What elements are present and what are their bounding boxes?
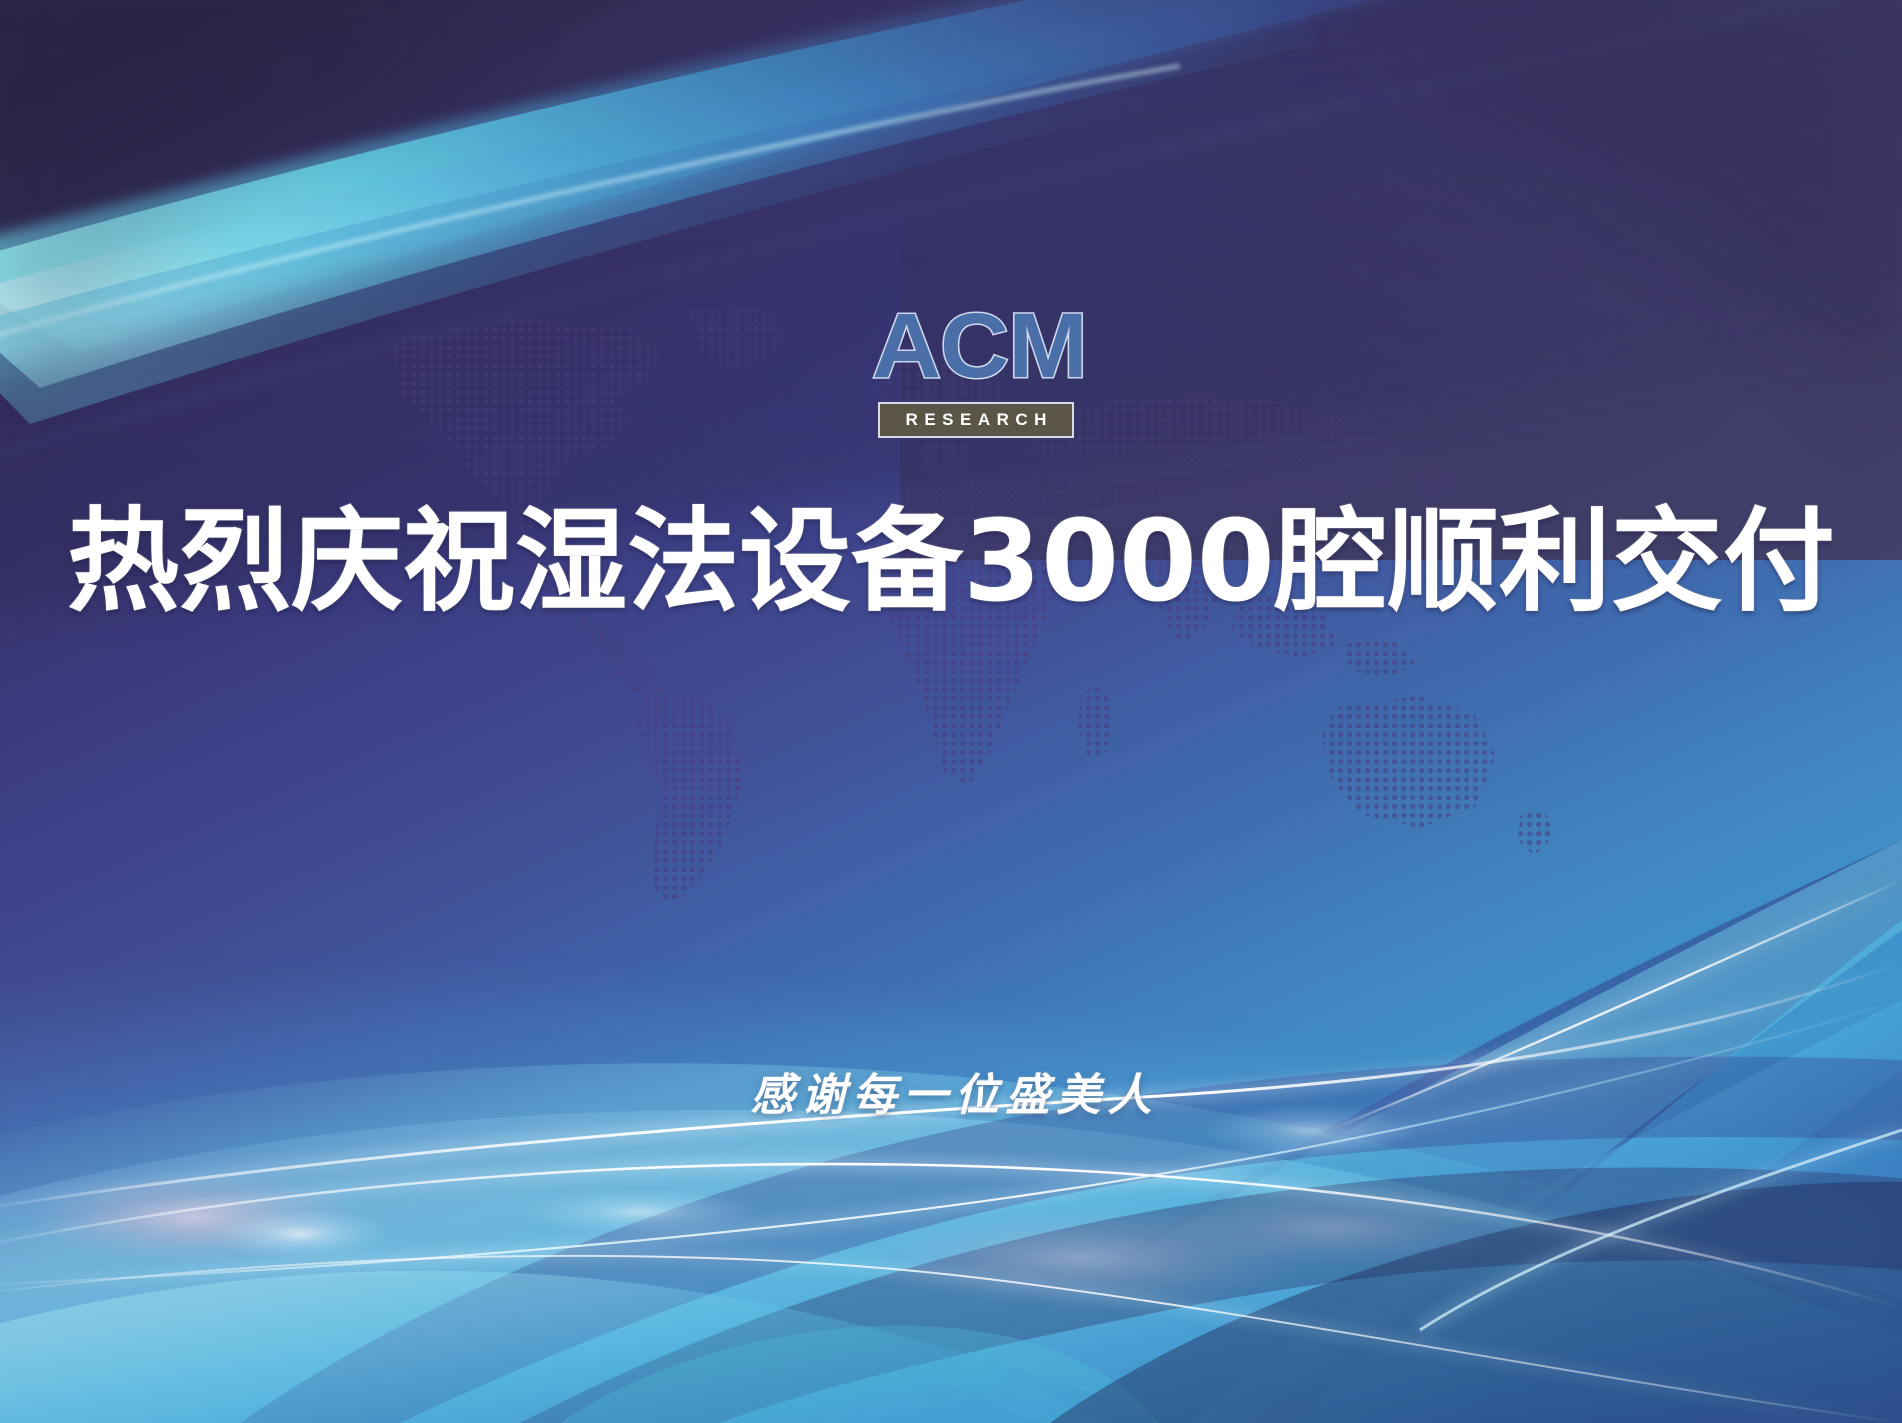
acm-wordmark: ACM xyxy=(872,296,1080,396)
background-art xyxy=(0,0,1902,1423)
research-label: RESEARCH xyxy=(899,410,1053,430)
research-band: RESEARCH xyxy=(878,402,1074,438)
acm-wordmark-wrap: ACM RESEARCH xyxy=(876,302,1076,402)
celebration-slide: ACM RESEARCH 热烈庆祝湿法设备3000腔顺利交付 感谢每一位盛美人 xyxy=(0,0,1902,1423)
acm-research-logo: ACM RESEARCH xyxy=(876,302,1076,444)
subtitle-thankyou: 感谢每一位盛美人 xyxy=(0,1068,1902,1124)
page-title: 热烈庆祝湿法设备3000腔顺利交付 xyxy=(0,498,1902,626)
